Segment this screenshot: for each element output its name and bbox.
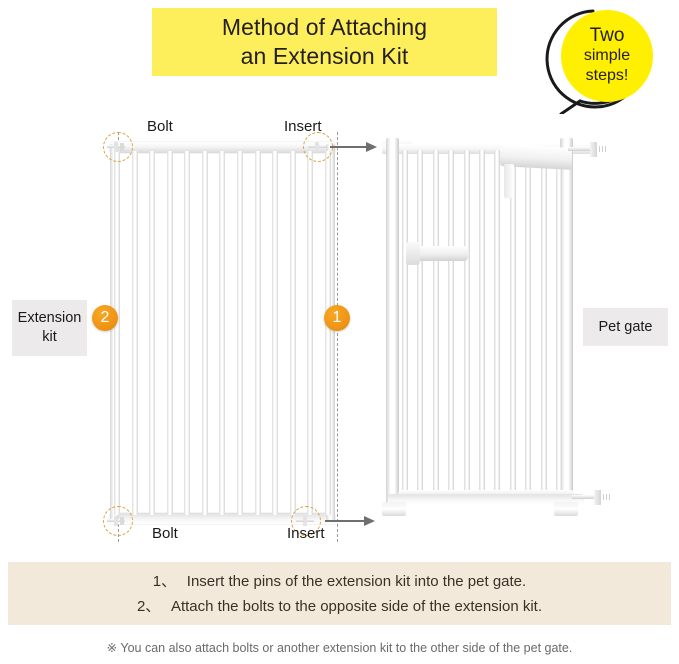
label-insert-top: Insert: [284, 118, 322, 135]
pet-gate-bar: [402, 150, 408, 500]
tag-pet-gate: Pet gate: [583, 308, 668, 346]
diagram-area: Bolt Insert Bolt Insert 2 1 Extension ki…: [0, 110, 679, 560]
pet-gate-bar: [494, 150, 500, 500]
title-banner: Method of Attaching an Extension Kit: [152, 8, 497, 76]
extension-kit-bar: [132, 151, 138, 515]
badge-text: Two simple steps!: [561, 10, 653, 102]
bolt-pin-top: [107, 142, 129, 152]
extension-kit-bar: [184, 151, 190, 515]
extension-kit-bar: [219, 151, 225, 515]
extension-kit-bar: [149, 151, 155, 515]
guide-line-right: [337, 132, 338, 542]
extension-kit-bar: [325, 151, 331, 515]
instruction-1-text: Insert the pins of the extension kit int…: [187, 569, 526, 594]
pet-gate-bars: [402, 150, 562, 500]
instruction-band: 1、 Insert the pins of the extension kit …: [8, 562, 671, 625]
extension-kit-bar: [167, 151, 173, 515]
step-number-2: 2: [92, 305, 118, 331]
tag-pet-gate-label: Pet gate: [598, 318, 652, 337]
pet-gate-top-bolt: [568, 142, 608, 157]
title-line-2: an Extension Kit: [241, 42, 409, 71]
pet-gate-bar: [433, 150, 439, 500]
pet-gate-graphic: [382, 138, 594, 530]
pet-gate-bar: [510, 150, 516, 500]
extension-kit-bar: [307, 151, 313, 515]
extension-kit-bar: [114, 151, 120, 515]
extension-kit-bar: [255, 151, 261, 515]
pet-gate-latch-lip: [504, 164, 514, 198]
pet-gate-bar: [464, 150, 470, 500]
infographic-root: Method of Attaching an Extension Kit Two…: [0, 0, 679, 664]
pet-gate-handle-knob: [406, 242, 420, 265]
pet-gate-left-post: [386, 138, 399, 516]
pet-gate-bar: [525, 150, 531, 500]
tag-extension-kit-line2: kit: [42, 328, 57, 347]
extension-kit-bars: [114, 151, 331, 515]
insert-arrow-top: [330, 142, 377, 152]
tag-extension-kit-line1: Extension: [18, 309, 82, 328]
pet-gate-bottom-bolt: [572, 490, 612, 505]
badge-line-1: Two: [590, 26, 625, 46]
step-number-1: 1: [324, 305, 350, 331]
title-line-1: Method of Attaching: [222, 13, 427, 42]
instruction-2-number: 2、: [137, 594, 171, 619]
pet-gate-bar: [541, 150, 547, 500]
pet-gate-bar: [556, 150, 562, 500]
label-bolt-top: Bolt: [147, 118, 173, 135]
label-insert-bottom: Insert: [287, 525, 325, 542]
instruction-row-2: 2、 Attach the bolts to the opposite side…: [137, 594, 542, 619]
instruction-row-1: 1、 Insert the pins of the extension kit …: [153, 569, 526, 594]
extension-kit-graphic: [110, 142, 335, 524]
pet-gate-bar: [417, 150, 423, 500]
extension-kit-bar: [237, 151, 243, 515]
instruction-1-number: 1、: [153, 569, 187, 594]
pet-gate-foot-left: [382, 502, 406, 516]
insert-pin-top: [308, 142, 330, 152]
bolt-pin-bottom: [107, 516, 129, 526]
two-simple-steps-badge: Two simple steps!: [525, 2, 677, 114]
footnote-text: ※ You can also attach bolts or another e…: [0, 640, 679, 655]
tag-extension-kit: Extension kit: [12, 300, 87, 356]
label-bolt-bottom: Bolt: [152, 525, 178, 542]
extension-kit-bar: [202, 151, 208, 515]
instruction-2-text: Attach the bolts to the opposite side of…: [171, 594, 542, 619]
badge-line-2: simple: [584, 46, 630, 66]
badge-line-3: steps!: [586, 66, 629, 86]
pet-gate-bar: [448, 150, 454, 500]
extension-kit-bar: [290, 151, 296, 515]
extension-kit-bar: [272, 151, 278, 515]
insert-arrow-bottom: [325, 516, 375, 526]
pet-gate-bar: [479, 150, 485, 500]
